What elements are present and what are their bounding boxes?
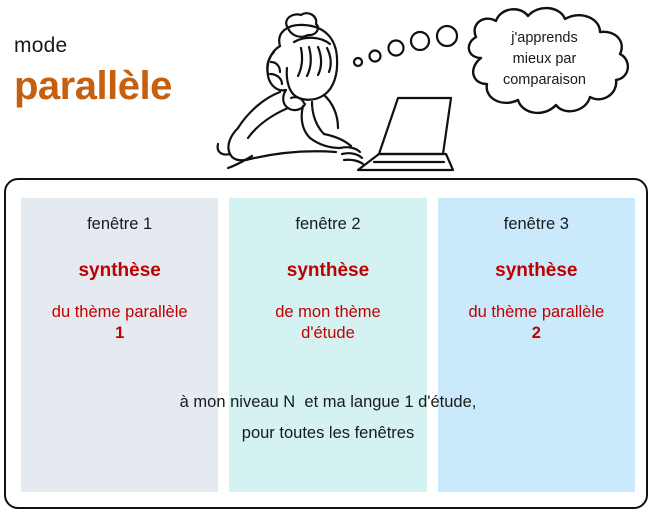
synthesis-desc-2-line-1: de mon thème	[275, 303, 380, 321]
window-column-1[interactable]: fenêtre 1 synthèse du thème parallèle 1	[21, 198, 218, 492]
synthesis-desc-3-line-1: du thème parallèle	[468, 303, 604, 321]
window-column-3-content: fenêtre 3 synthèse du thème parallèle 2	[438, 215, 635, 345]
window-label-1: fenêtre 1	[25, 215, 214, 235]
thought-bubble-line-1: j'apprends	[462, 28, 627, 49]
windows-columns: fenêtre 1 synthèse du thème parallèle 1 …	[21, 198, 635, 492]
synthesis-desc-2-line-2: d'étude	[301, 324, 355, 342]
synthesis-desc-1-line-2: 1	[115, 324, 124, 342]
synthesis-desc-1-line-1: du thème parallèle	[52, 303, 188, 321]
window-label-3: fenêtre 3	[442, 215, 631, 235]
window-label-2: fenêtre 2	[233, 215, 422, 235]
synthesis-desc-1: du thème parallèle 1	[25, 302, 214, 346]
synthesis-heading-2: synthèse	[233, 260, 422, 283]
synthesis-desc-2: de mon thème d'étude	[233, 302, 422, 346]
parallel-mode-panel: fenêtre 1 synthèse du thème parallèle 1 …	[4, 178, 648, 509]
synthesis-heading-1: synthèse	[25, 260, 214, 283]
synthesis-desc-3: du thème parallèle 2	[442, 302, 631, 346]
window-column-2[interactable]: fenêtre 2 synthèse de mon thème d'étude	[229, 198, 426, 492]
synthesis-heading-3: synthèse	[442, 260, 631, 283]
thought-bubble-line-3: comparaison	[462, 70, 627, 91]
window-column-2-content: fenêtre 2 synthèse de mon thème d'étude	[229, 215, 426, 345]
window-column-1-content: fenêtre 1 synthèse du thème parallèle 1	[21, 215, 218, 345]
window-column-3[interactable]: fenêtre 3 synthèse du thème parallèle 2	[438, 198, 635, 492]
header-band: mode parallèle	[0, 0, 657, 178]
thought-bubble-text: j'apprends mieux par comparaison	[462, 28, 627, 91]
thought-bubble-line-2: mieux par	[462, 49, 627, 70]
synthesis-desc-3-line-2: 2	[532, 324, 541, 342]
